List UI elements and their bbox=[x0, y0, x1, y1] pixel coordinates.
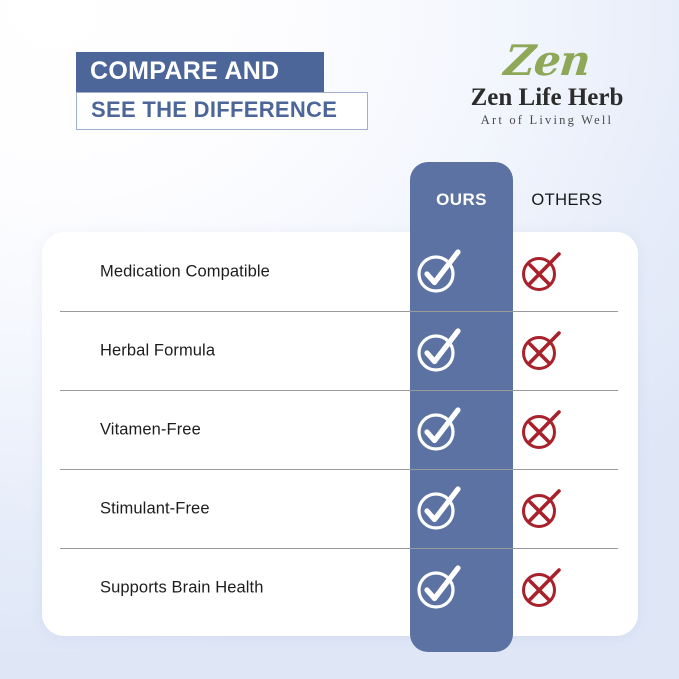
logo-tagline: Art of Living Well bbox=[452, 112, 642, 130]
heading-line-1: COMPARE AND bbox=[90, 59, 310, 84]
heading-line-2: SEE THE DIFFERENCE bbox=[91, 99, 353, 121]
cross-icon bbox=[513, 323, 569, 379]
comparison-infographic: COMPARE AND SEE THE DIFFERENCE Zen Zen L… bbox=[0, 0, 679, 679]
heading-block: COMPARE AND SEE THE DIFFERENCE bbox=[76, 52, 376, 130]
check-icon bbox=[410, 560, 466, 616]
brand-logo: Zen Zen Life Herb Art of Living Well bbox=[452, 40, 642, 129]
column-header-ours: OURS bbox=[410, 190, 513, 210]
table-row: Vitamen-Free bbox=[42, 390, 638, 469]
column-header-others: OTHERS bbox=[513, 191, 621, 210]
heading-primary-bar: COMPARE AND bbox=[76, 52, 324, 93]
row-label: Medication Compatible bbox=[100, 262, 270, 281]
cross-icon bbox=[513, 244, 569, 300]
cross-icon bbox=[513, 402, 569, 458]
row-label: Supports Brain Health bbox=[100, 578, 264, 597]
heading-secondary-bar: SEE THE DIFFERENCE bbox=[76, 92, 368, 130]
table-row: Supports Brain Health bbox=[42, 548, 638, 627]
cross-icon bbox=[513, 560, 569, 616]
cross-icon bbox=[513, 481, 569, 537]
check-icon bbox=[410, 402, 466, 458]
logo-mark-zen: Zen bbox=[450, 40, 644, 82]
check-icon bbox=[410, 323, 466, 379]
table-row: Stimulant-Free bbox=[42, 469, 638, 548]
row-label: Herbal Formula bbox=[100, 341, 215, 360]
table-row: Medication Compatible bbox=[42, 232, 638, 311]
row-label: Vitamen-Free bbox=[100, 420, 201, 439]
logo-brand-name: Zen Life Herb bbox=[452, 84, 642, 112]
table-row: Herbal Formula bbox=[42, 311, 638, 390]
row-label: Stimulant-Free bbox=[100, 499, 210, 518]
check-icon bbox=[410, 244, 466, 300]
check-icon bbox=[410, 481, 466, 537]
